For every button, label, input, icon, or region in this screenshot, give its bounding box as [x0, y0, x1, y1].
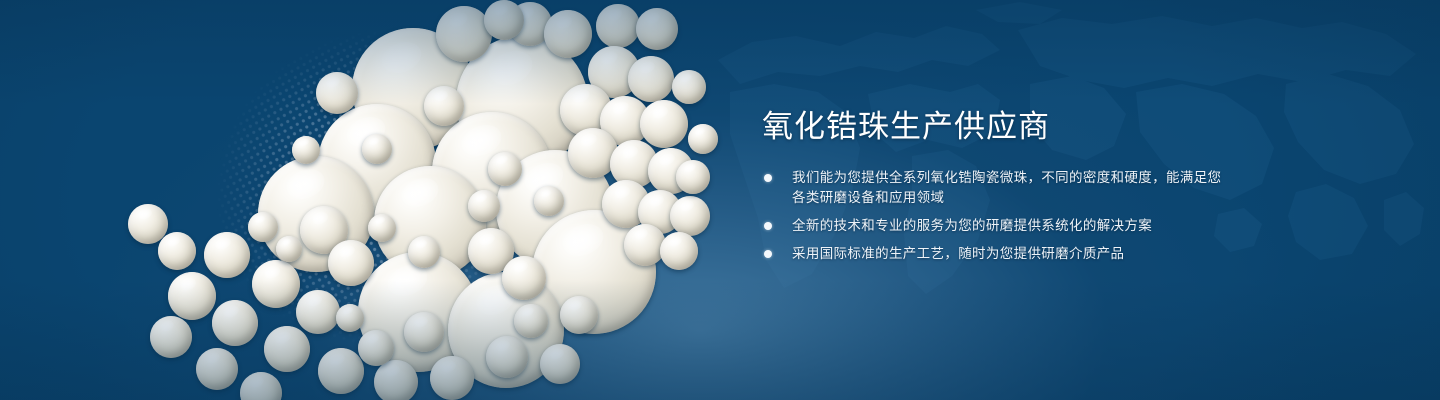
feature-list: 我们能为您提供全系列氧化锆陶瓷微珠，不同的密度和硬度，能满足您各类研磨设备和应用… — [762, 168, 1232, 264]
dot-bullet-icon — [764, 174, 772, 182]
dot-bullet-icon — [764, 222, 772, 230]
list-item-label: 采用国际标准的生产工艺，随时为您提供研磨介质产品 — [792, 244, 1232, 264]
list-item: 采用国际标准的生产工艺，随时为您提供研磨介质产品 — [762, 244, 1232, 264]
list-item-label: 全新的技术和专业的服务为您的研磨提供系统化的解决方案 — [792, 216, 1232, 236]
list-item: 全新的技术和专业的服务为您的研磨提供系统化的解决方案 — [762, 216, 1232, 236]
list-item-label: 我们能为您提供全系列氧化锆陶瓷微珠，不同的密度和硬度，能满足您各类研磨设备和应用… — [792, 168, 1232, 208]
banner-content: 氧化锆珠生产供应商 我们能为您提供全系列氧化锆陶瓷微珠，不同的密度和硬度，能满足… — [762, 0, 1362, 400]
list-item: 我们能为您提供全系列氧化锆陶瓷微珠，不同的密度和硬度，能满足您各类研磨设备和应用… — [762, 168, 1232, 208]
page-title: 氧化锆珠生产供应商 — [762, 110, 1050, 144]
hero-banner: 氧化锆珠生产供应商 我们能为您提供全系列氧化锆陶瓷微珠，不同的密度和硬度，能满足… — [0, 0, 1440, 400]
dot-bullet-icon — [764, 250, 772, 258]
